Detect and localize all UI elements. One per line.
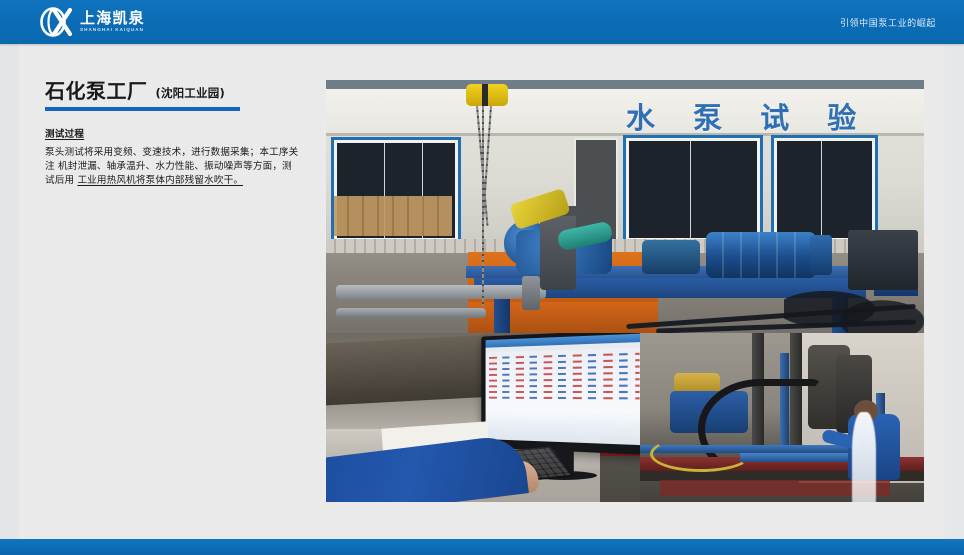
page-title: 石化泵工厂 (沈阳工业园) [45,80,303,102]
brand-logo-text: 上海凯泉 SHANGHAI KAIQUAN [80,11,145,33]
right-margin-strip [945,44,964,555]
slide-page: 上海凯泉 SHANGHAI KAIQUAN 引领中国泵工业的崛起 石化泵工厂 (… [0,0,964,555]
title-underline-rule [45,107,240,111]
page-title-main: 石化泵工厂 [45,80,148,102]
section-body-text: 泵头测试将采用变频、变速技术，进行数据采集；本工序关注 机封泄漏、轴承温升、水力… [45,146,299,188]
kaiquan-mark-icon [40,7,73,37]
header-tagline: 引领中国泵工业的崛起 [840,0,936,44]
photo-collage: 水 泵 试 验 台 [326,80,924,502]
page-title-sub: (沈阳工业园) [156,85,225,102]
petrochemical-pump-skid-test-photo [640,333,924,502]
section-label-test-process: 测试过程 [45,126,303,140]
brand-name-en: SHANGHAI KAIQUAN [80,28,145,33]
brand-logo[interactable]: 上海凯泉 SHANGHAI KAIQUAN [40,6,145,38]
left-margin-strip [0,44,19,555]
brand-name-cn: 上海凯泉 [80,11,145,26]
page-footer [0,539,964,555]
page-header: 上海凯泉 SHANGHAI KAIQUAN 引领中国泵工业的崛起 [0,0,964,44]
body-line-3: 工业用热风机将泵体内部残留水吹干。 [77,175,243,186]
pump-test-bench-hall-photo: 水 泵 试 验 台 [326,80,924,333]
operator-data-acquisition-pc-photo [326,333,640,502]
slide-text-column: 石化泵工厂 (沈阳工业园) 测试过程 泵头测试将采用变频、变速技术，进行数据采集… [45,80,303,188]
